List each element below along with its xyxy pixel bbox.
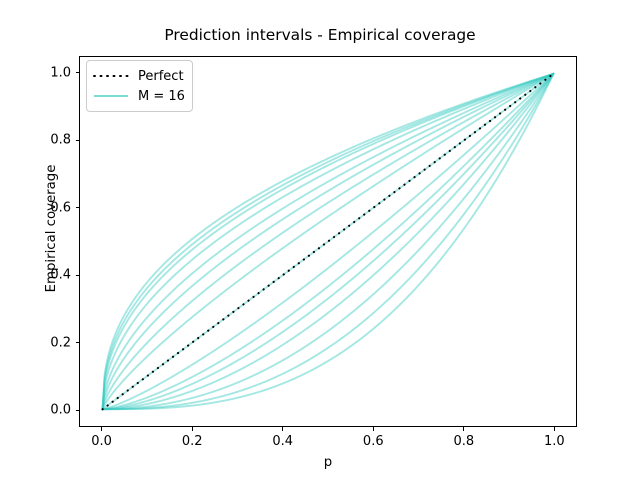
y-tick-label: 0.0	[1, 403, 71, 418]
legend-label-perfect: Perfect	[138, 69, 184, 84]
x-tick-mark	[101, 427, 102, 431]
y-tick-mark	[76, 410, 80, 411]
x-tick-label: 0.6	[363, 434, 384, 449]
y-axis-label: Empirical coverage	[44, 43, 59, 414]
legend-label-series: M = 16	[138, 89, 185, 104]
legend-item-perfect: Perfect	[93, 66, 185, 86]
legend: Perfect M = 16	[86, 60, 193, 112]
x-tick-mark	[554, 427, 555, 431]
x-tick-label: 0.8	[453, 434, 474, 449]
x-tick-label: 0.0	[91, 434, 112, 449]
x-tick-mark	[192, 427, 193, 431]
y-tick-mark	[76, 207, 80, 208]
plot-svg	[80, 57, 576, 426]
x-tick-mark	[282, 427, 283, 431]
x-tick-label: 0.4	[272, 434, 293, 449]
y-tick-label: 1.0	[1, 65, 71, 80]
x-tick-mark	[373, 427, 374, 431]
y-tick-mark	[76, 72, 80, 73]
legend-swatch-perfect-icon	[93, 69, 129, 83]
y-tick-mark	[76, 140, 80, 141]
legend-item-series: M = 16	[93, 86, 185, 106]
y-tick-label: 0.2	[1, 335, 71, 350]
y-tick-label: 0.8	[1, 133, 71, 148]
y-tick-label: 0.4	[1, 268, 71, 283]
chart-title: Prediction intervals - Empirical coverag…	[0, 26, 640, 44]
x-tick-label: 1.0	[544, 434, 565, 449]
figure-canvas: Prediction intervals - Empirical coverag…	[0, 0, 640, 480]
y-tick-mark	[76, 275, 80, 276]
y-tick-mark	[76, 342, 80, 343]
y-tick-label: 0.6	[1, 200, 71, 215]
legend-swatch-series-icon	[93, 89, 129, 103]
x-tick-label: 0.2	[182, 434, 203, 449]
x-tick-mark	[463, 427, 464, 431]
x-axis-label: p	[79, 455, 577, 470]
